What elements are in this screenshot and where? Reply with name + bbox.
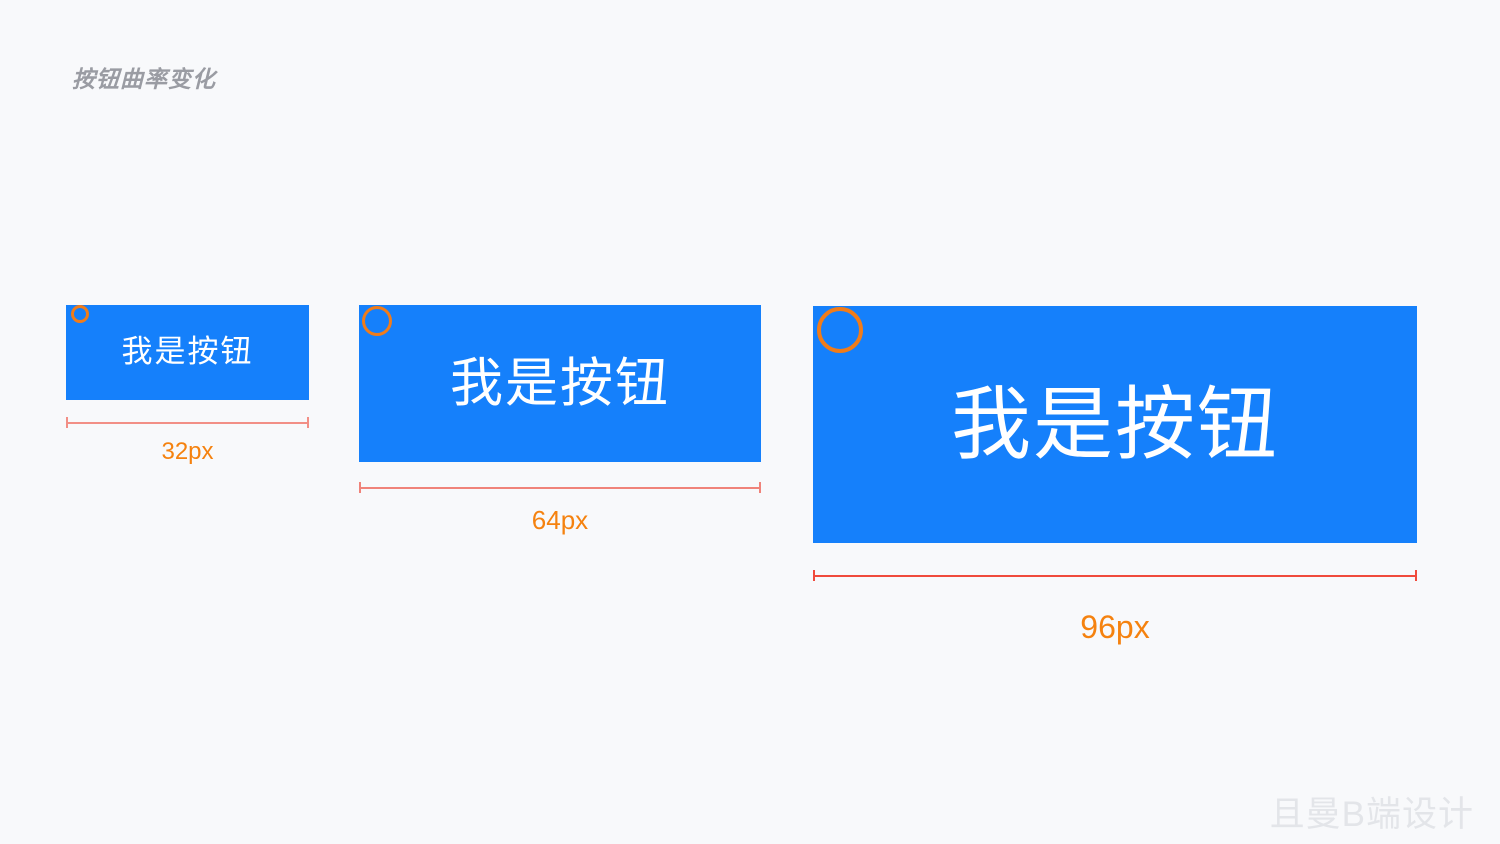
slide-canvas: 按钮曲率变化 我是按钮32px我是按钮64px我是按钮96px 且曼B端设计 [0, 0, 1500, 844]
dimension-rule [813, 575, 1417, 577]
specimen-button-96: 我是按钮96px [0, 0, 1500, 844]
dimension-line [813, 570, 1417, 581]
dimension-label: 96px [813, 611, 1417, 643]
button-label: 我是按钮 [951, 385, 1279, 465]
dimension-cap-right [1415, 570, 1417, 581]
button-96[interactable]: 我是按钮 [813, 306, 1417, 543]
dimension-cap-left [813, 570, 815, 581]
watermark: 且曼B端设计 [1270, 794, 1474, 836]
